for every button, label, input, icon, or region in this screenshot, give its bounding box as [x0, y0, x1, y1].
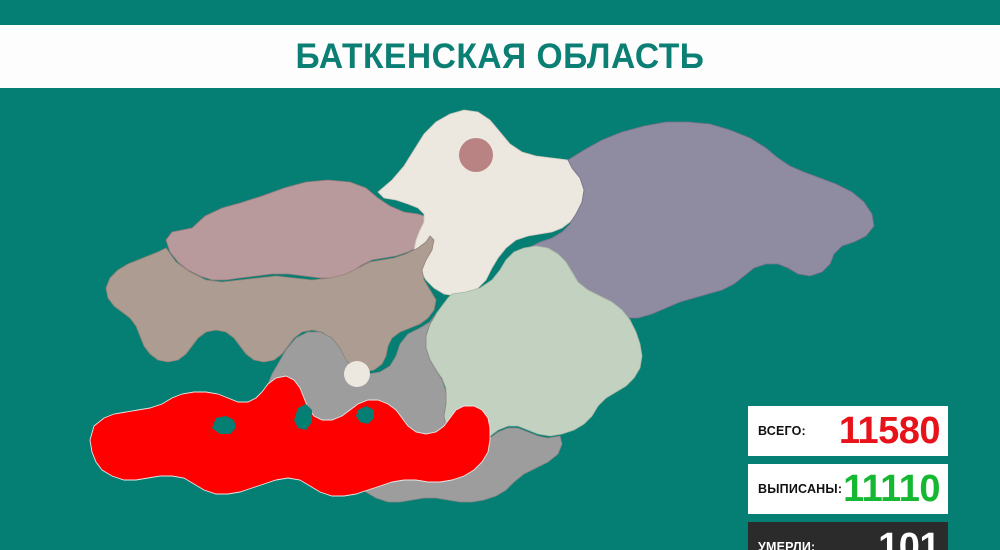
stats-panel: ВСЕГО: 11580 ВЫПИСАНЫ: 11110 УМЕРЛИ: 101	[748, 406, 948, 550]
city-marker-bishkek[interactable]	[459, 138, 493, 172]
stat-label-discharged: ВЫПИСАНЫ:	[758, 482, 842, 496]
stat-row-deaths[interactable]: УМЕРЛИ: 101	[748, 522, 948, 550]
stat-value-deaths: 101	[878, 528, 940, 550]
map-stage: ВСЕГО: 11580 ВЫПИСАНЫ: 11110 УМЕРЛИ: 101	[0, 88, 1000, 550]
infographic-root: БАТКЕНСКАЯ ОБЛАСТЬ	[0, 0, 1000, 550]
top-accent-bar	[0, 0, 1000, 25]
stat-row-total[interactable]: ВСЕГО: 11580	[748, 406, 948, 456]
stat-row-discharged[interactable]: ВЫПИСАНЫ: 11110	[748, 464, 948, 514]
stat-label-deaths: УМЕРЛИ:	[758, 540, 815, 550]
stat-value-discharged: 11110	[843, 470, 940, 508]
page-title: БАТКЕНСКАЯ ОБЛАСТЬ	[296, 39, 705, 74]
stat-value-total: 11580	[839, 412, 940, 450]
title-band: БАТКЕНСКАЯ ОБЛАСТЬ	[0, 25, 1000, 88]
city-marker-osh[interactable]	[344, 361, 370, 387]
stat-label-total: ВСЕГО:	[758, 424, 806, 438]
